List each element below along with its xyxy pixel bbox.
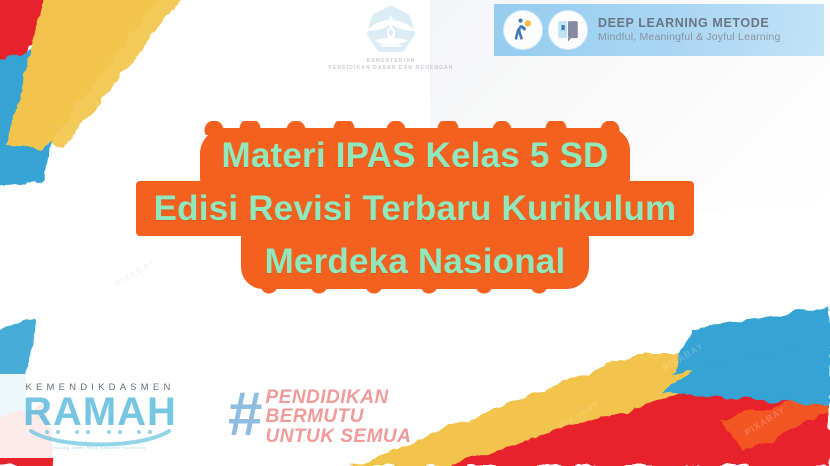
open-book-icon xyxy=(555,17,581,43)
pendidikan-bermutu-lines: PENDIDIKAN BERMUTU UNTUK SEMUA xyxy=(265,388,411,446)
ramah-logo-word: RAMAH xyxy=(23,391,177,433)
title-line-3: Merdeka Nasional xyxy=(241,234,590,289)
pendidikan-bermutu-line3: UNTUK SEMUA xyxy=(265,427,411,446)
person-reaching-sun-icon xyxy=(510,17,536,43)
person-reaching-sun-icon-wrap xyxy=(504,11,542,49)
deep-learning-badge-title: DEEP LEARNING METODE xyxy=(598,16,781,32)
tut-wuri-handayani-icon xyxy=(365,4,417,56)
pendidikan-bermutu-lockup: # PENDIDIKAN BERMUTU UNTUK SEMUA xyxy=(228,376,458,454)
poster-title: Materi IPAS Kelas 5 SD Edisi Revisi Terb… xyxy=(0,128,830,289)
pendidikan-bermutu-line2: BERMUTU xyxy=(265,407,411,426)
ramah-logo: KEMENDIKDASMEN RAMAH Ruang Aman Maju Ama… xyxy=(0,374,200,458)
poster-canvas: PIXABAY PIXABAY PIXABAY PIXABAY KEMENTER… xyxy=(0,0,830,466)
ramah-logo-tagline: Ruang Aman Maju Amanah Harmonis xyxy=(54,445,146,450)
ministry-logo-line1: KEMENTERIAN xyxy=(318,58,464,64)
pendidikan-bermutu-line1: PENDIDIKAN xyxy=(265,388,411,407)
ministry-logo: KEMENTERIAN PENDIDIKAN DASAR DAN MENENGA… xyxy=(318,4,464,84)
ministry-logo-line2: PENDIDIKAN DASAR DAN MENENGAH xyxy=(318,65,464,71)
deep-learning-badge: DEEP LEARNING METODE Mindful, Meaningful… xyxy=(494,4,824,56)
deep-learning-badge-subtitle: Mindful, Meaningful & Joyful Learning xyxy=(598,31,781,44)
open-book-icon-wrap xyxy=(549,11,587,49)
hashtag-icon: # xyxy=(228,384,259,446)
title-line-2: Edisi Revisi Terbaru Kurikulum xyxy=(136,181,695,236)
title-line-1: Materi IPAS Kelas 5 SD xyxy=(200,128,631,183)
deep-learning-badge-text: DEEP LEARNING METODE Mindful, Meaningful… xyxy=(598,16,781,45)
